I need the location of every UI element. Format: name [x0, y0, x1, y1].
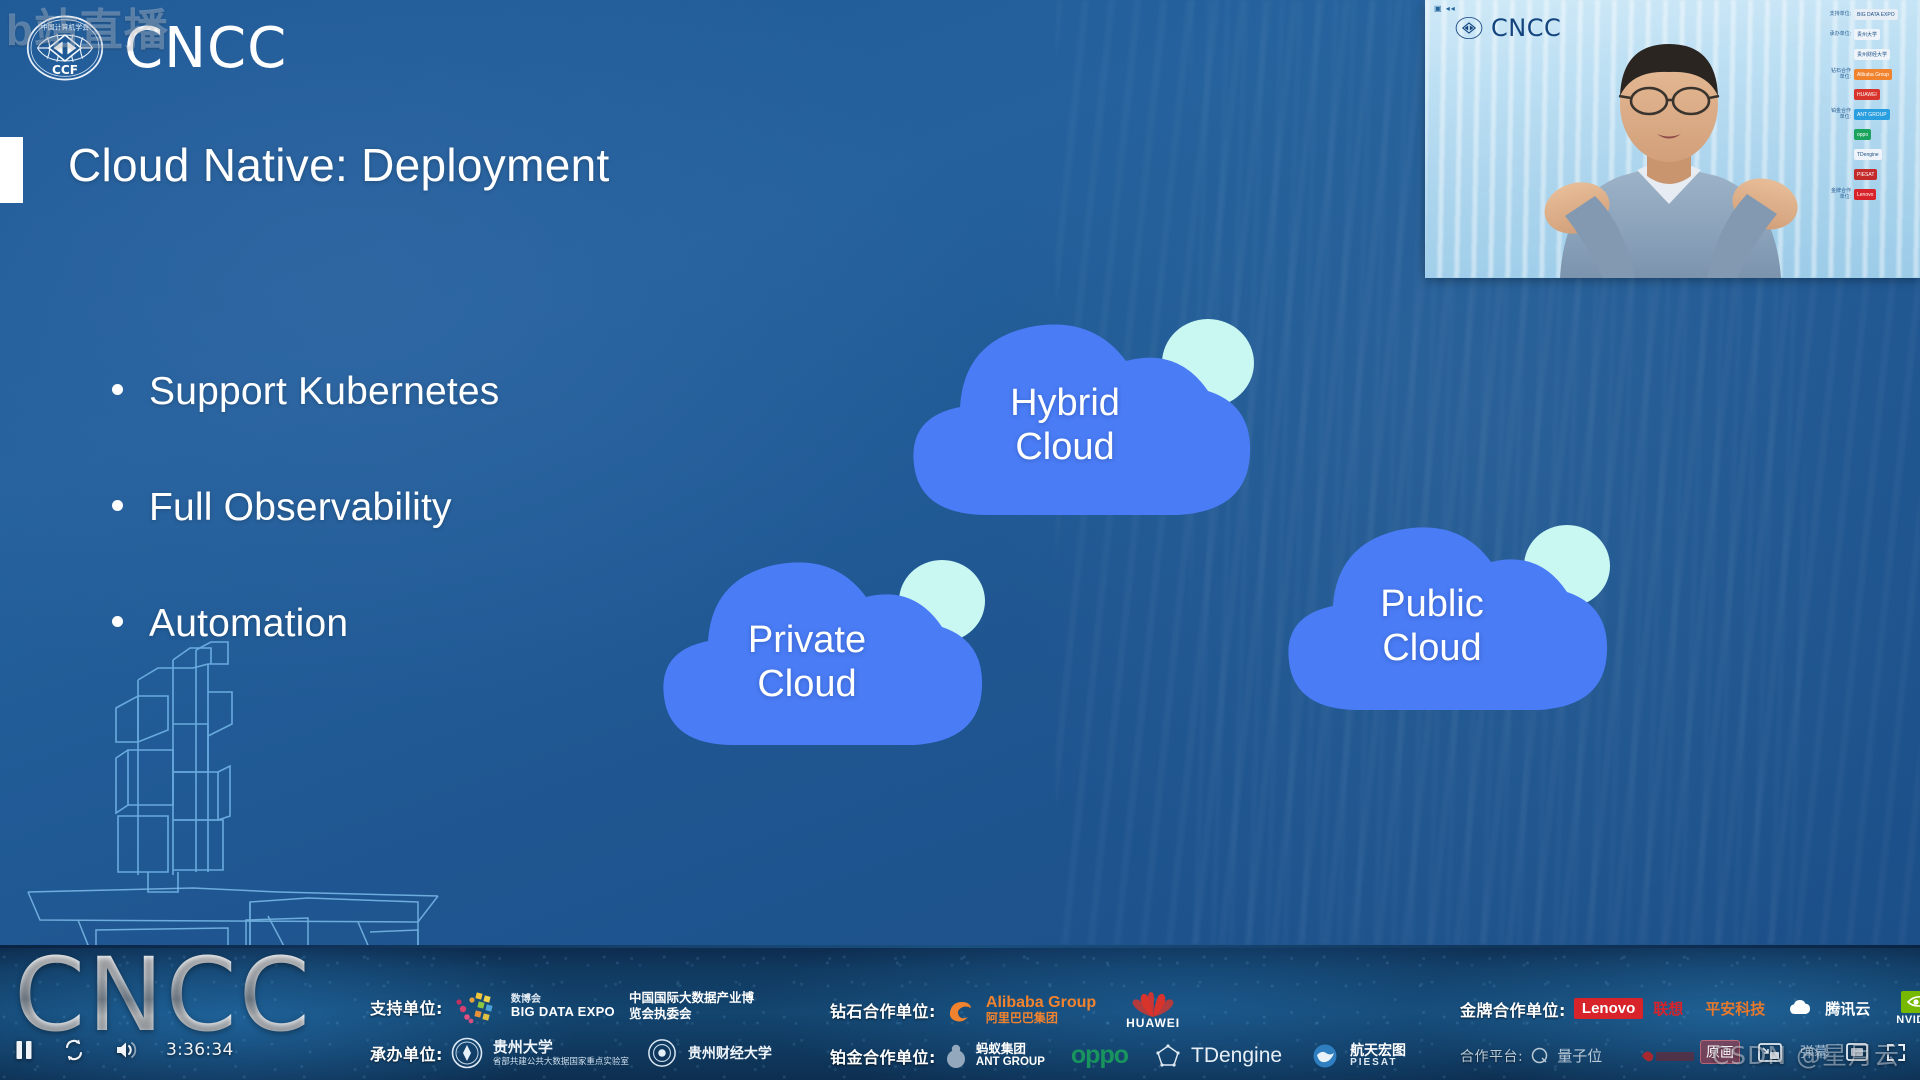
- video-player-controls: 3:36:34 原画 弹幕: [0, 1034, 1920, 1080]
- alibaba-cn-label: 阿里巴巴集团: [986, 1012, 1096, 1025]
- title-accent-bar: [0, 137, 23, 203]
- huawei-wordmark: HUAWEI: [1126, 989, 1180, 1030]
- webcam-sponsor-chip: oppo: [1854, 129, 1871, 140]
- nvidia-wordmark: NVIDIA: [1896, 991, 1920, 1026]
- webcam-sponsor-row: 承办单位: 贵州大学: [1827, 26, 1917, 43]
- csdn-watermark: CSDN @星月云: [1712, 1036, 1900, 1072]
- webcam-sponsor-label: 承办单位:: [1827, 32, 1851, 38]
- alibaba-wordmark: Alibaba Group 阿里巴巴集团: [986, 995, 1096, 1024]
- video-player-stage: 中国计算机学会 CCF CNCC b站直播 Cloud Native: Depl…: [0, 0, 1920, 1080]
- pingan-tech-label: 平安科技: [1705, 998, 1765, 1019]
- sponsor-group-diamond: 钻石合作单位: Alibaba Group 阿里巴巴集团: [830, 989, 1180, 1030]
- sponsor-group-label: 钻石合作单位:: [830, 998, 936, 1022]
- cncc-tower-wireframe-graphic: [18, 620, 448, 945]
- cloud-icon-hybrid: [878, 305, 1278, 535]
- webcam-sponsor-label: 钻石合作单位:: [1827, 69, 1851, 80]
- bullet-label: Full Observability: [149, 486, 452, 530]
- webcam-sponsor-chip: TDengine: [1854, 149, 1882, 160]
- nvidia-label: NVIDIA: [1896, 1014, 1920, 1026]
- alibaba-en-label: Alibaba Group: [986, 995, 1096, 1012]
- slide-title: Cloud Native: Deployment: [68, 138, 610, 192]
- huawei-flower-icon: [1126, 989, 1180, 1019]
- webcam-sponsor-row: 钻石合作单位: Alibaba Group: [1827, 66, 1917, 83]
- tencent-cloud-label: 腾讯云: [1825, 998, 1870, 1019]
- alibaba-icon: [944, 996, 978, 1024]
- webcam-sponsor-chip: HUAWEI: [1854, 89, 1880, 100]
- webcam-sponsor-label: 金牌合作单位:: [1827, 189, 1851, 200]
- webcam-sponsor-row: 金牌合作单位: Lenovo: [1827, 186, 1917, 203]
- webcam-sponsor-label: 支持单位:: [1827, 12, 1851, 18]
- webcam-sponsor-chip: 贵州大学: [1854, 29, 1880, 40]
- player-left-controls: 3:36:34: [14, 1038, 234, 1062]
- sponsor-group-support: 支持单位: 数博会 BIG: [370, 987, 759, 1027]
- sponsor-group-label: 支持单位:: [370, 995, 443, 1019]
- lenovo-cn-label: 联想: [1653, 998, 1683, 1019]
- volume-icon[interactable]: [114, 1039, 138, 1061]
- bullet-dot-icon: [112, 384, 123, 395]
- list-item: Support Kubernetes: [112, 370, 732, 414]
- webcam-sponsor-chip: 贵州财经大学: [1854, 49, 1890, 60]
- pause-icon[interactable]: [14, 1039, 34, 1061]
- webcam-sponsor-row: HUAWEI: [1827, 86, 1917, 103]
- webcam-sponsor-chip: Alibaba Group: [1854, 69, 1892, 80]
- bilibili-watermark: b站直播: [6, 2, 206, 62]
- big-data-expo-wordmark: 数博会 BIG DATA EXPO: [511, 995, 615, 1019]
- sponsor-group-gold: 金牌合作单位: Lenovo 联想 平安科技 腾讯云 NVIDIA: [1460, 991, 1920, 1026]
- lenovo-label: Lenovo: [1574, 998, 1643, 1019]
- webcam-sponsor-sidebar: 支持单位: BIG DATA EXPO 承办单位: 贵州大学 贵州财经大学 钻石…: [1824, 0, 1920, 278]
- webcam-sponsor-chip: BIG DATA EXPO: [1854, 9, 1898, 20]
- webcam-sponsor-row: 支持单位: BIG DATA EXPO: [1827, 6, 1917, 23]
- tencent-cloud-icon: [1789, 999, 1815, 1019]
- webcam-sponsor-label: 铂金合作单位:: [1827, 109, 1851, 120]
- webcam-sponsor-chip: Lenovo: [1854, 189, 1876, 200]
- expo-en-label: BIG DATA EXPO: [511, 1005, 615, 1019]
- webcam-sponsor-row: TDengine: [1827, 146, 1917, 163]
- current-time-label: 3:36:34: [166, 1040, 234, 1060]
- list-item: Full Observability: [112, 486, 732, 530]
- webcam-sponsor-row: 贵州财经大学: [1827, 46, 1917, 63]
- bullet-label: Support Kubernetes: [149, 370, 500, 414]
- webcam-sponsor-row: oppo: [1827, 126, 1917, 143]
- webcam-sponsor-row: 铂金合作单位: ANT GROUP: [1827, 106, 1917, 123]
- cloud-icon-public: [1255, 510, 1635, 730]
- cloud-shape-hybrid: Hybrid Cloud: [878, 305, 1278, 535]
- svg-text:CCF: CCF: [52, 63, 78, 77]
- bullet-dot-icon: [112, 500, 123, 511]
- webcam-sponsor-row: PIESAT: [1827, 166, 1917, 183]
- cloud-shape-public: Public Cloud: [1255, 510, 1635, 730]
- loop-icon[interactable]: [62, 1038, 86, 1062]
- expo-committee-label: 中国国际大数据产业博览会执委会: [629, 991, 759, 1022]
- speaker-webcam-overlay[interactable]: ▣ ◂◂ CNCC: [1425, 0, 1920, 278]
- nvidia-eye-icon: [1901, 991, 1920, 1013]
- webcam-sponsor-chip: ANT GROUP: [1854, 109, 1890, 120]
- cloud-shape-private: Private Cloud: [630, 545, 1010, 765]
- big-data-expo-icon: [451, 987, 503, 1027]
- huawei-label: HUAWEI: [1126, 1016, 1180, 1030]
- cloud-icon-private: [630, 545, 1010, 765]
- sponsor-group-label: 金牌合作单位:: [1460, 997, 1566, 1021]
- webcam-sponsor-chip: PIESAT: [1854, 169, 1877, 180]
